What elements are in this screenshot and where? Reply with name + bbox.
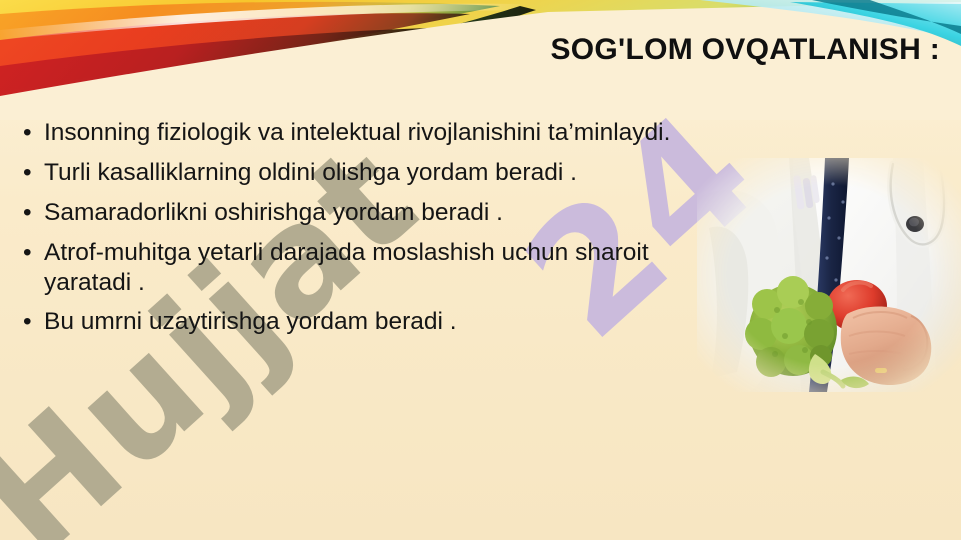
- bullet-icon: •: [23, 238, 32, 268]
- list-item: • Bu umrni uzaytirishga yordam beradi .: [18, 307, 678, 337]
- bullet-icon: •: [23, 118, 32, 148]
- list-item: • Turli kasalliklarning oldini olishga y…: [18, 158, 678, 188]
- list-item-text: Turli kasalliklarning oldini olishga yor…: [44, 158, 678, 188]
- bullet-icon: •: [23, 307, 32, 337]
- doctor-with-vegetables-photo: [697, 158, 961, 392]
- list-item: • Atrof-muhitga yetarli darajada moslash…: [18, 238, 678, 298]
- bullet-icon: •: [23, 158, 32, 188]
- list-item-text: Atrof-muhitga yetarli darajada moslashis…: [44, 238, 678, 298]
- bullet-icon: •: [23, 198, 32, 228]
- list-item-text: Bu umrni uzaytirishga yordam beradi .: [44, 307, 678, 337]
- page-title: SOG'LOM OVQATLANISH :: [300, 33, 940, 67]
- bullet-list: • Insonning fiziologik va intelektual ri…: [18, 118, 678, 347]
- list-item-text: Insonning fiziologik va intelektual rivo…: [44, 118, 678, 148]
- slide-canvas: Hujjat 24: [0, 0, 961, 540]
- list-item: • Insonning fiziologik va intelektual ri…: [18, 118, 678, 148]
- list-item-text: Samaradorlikni oshirishga yordam beradi …: [44, 198, 678, 228]
- list-item: • Samaradorlikni oshirishga yordam berad…: [18, 198, 678, 228]
